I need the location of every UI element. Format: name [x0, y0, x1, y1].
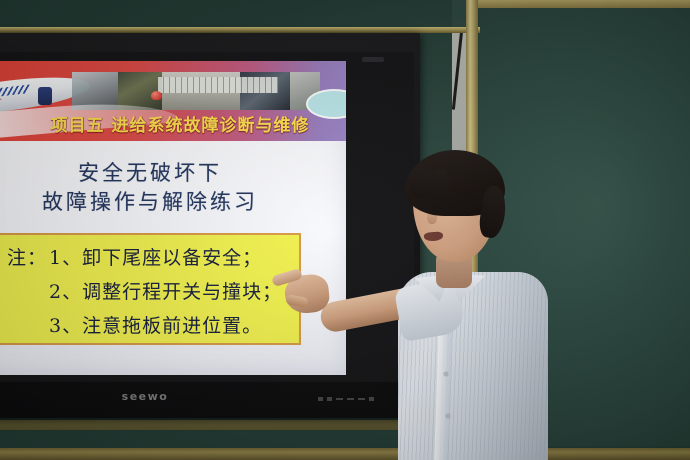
shirt-button	[446, 414, 450, 418]
classroom-scene: 项目五 进给系统故障诊断与维修 安全无破坏下 故障操作与解除练习 注：1、卸下尾…	[0, 0, 690, 460]
instructor	[0, 0, 690, 460]
shirt-button	[444, 372, 448, 376]
